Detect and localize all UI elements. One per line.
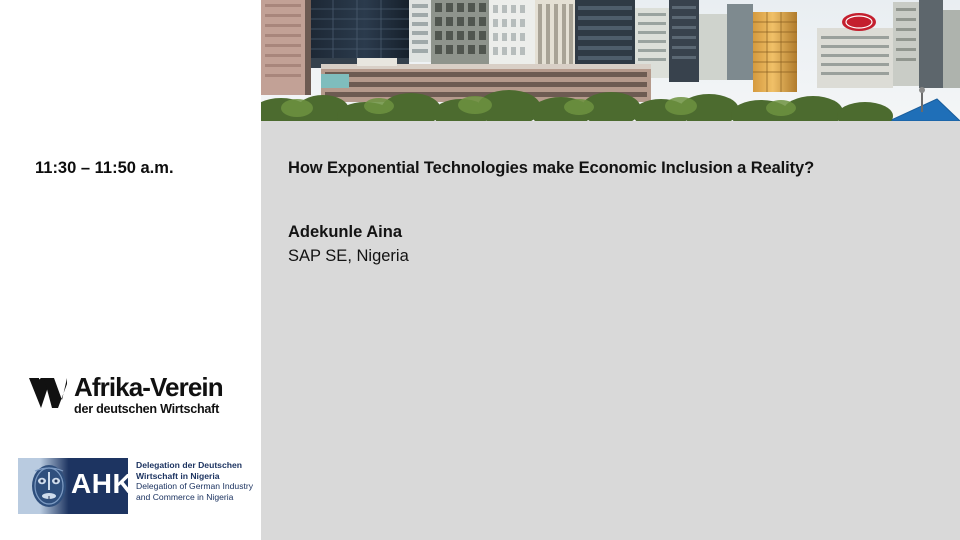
ahk-logo: AHK Delegation der Deutschen Wirtschaft … [18,458,260,514]
session-title: How Exponential Technologies make Econom… [288,158,948,178]
afrika-verein-name: Afrika-Verein [74,374,223,401]
ahk-line-2: Wirtschaft in Nigeria [136,471,264,482]
ahk-acronym: AHK [71,467,128,501]
ahk-line-3: Delegation of German Industry [136,481,264,492]
african-mask-icon [27,463,71,509]
session-time: 11:30 – 11:50 a.m. [35,158,245,178]
presentation-slide: 11:30 – 11:50 a.m. How Exponential Techn… [0,0,960,540]
speaker-organisation: SAP SE, Nigeria [288,246,409,266]
afrika-verein-tagline: der deutschen Wirtschaft [74,402,223,416]
afrika-verein-logo: Afrika-Verein der deutschen Wirtschaft [28,374,240,420]
ahk-delegation-text: Delegation der Deutschen Wirtschaft in N… [136,460,264,502]
content-panel [261,121,960,540]
ahk-badge: AHK [18,458,128,514]
afrika-verein-wordmark: Afrika-Verein der deutschen Wirtschaft [74,374,223,416]
skyline-illustration [261,0,960,121]
speaker-name: Adekunle Aina [288,222,402,242]
ahk-line-4: and Commerce in Nigeria [136,492,264,503]
city-skyline-photo [261,0,960,121]
v-mark-icon [28,376,68,410]
ahk-line-1: Delegation der Deutschen [136,460,264,471]
